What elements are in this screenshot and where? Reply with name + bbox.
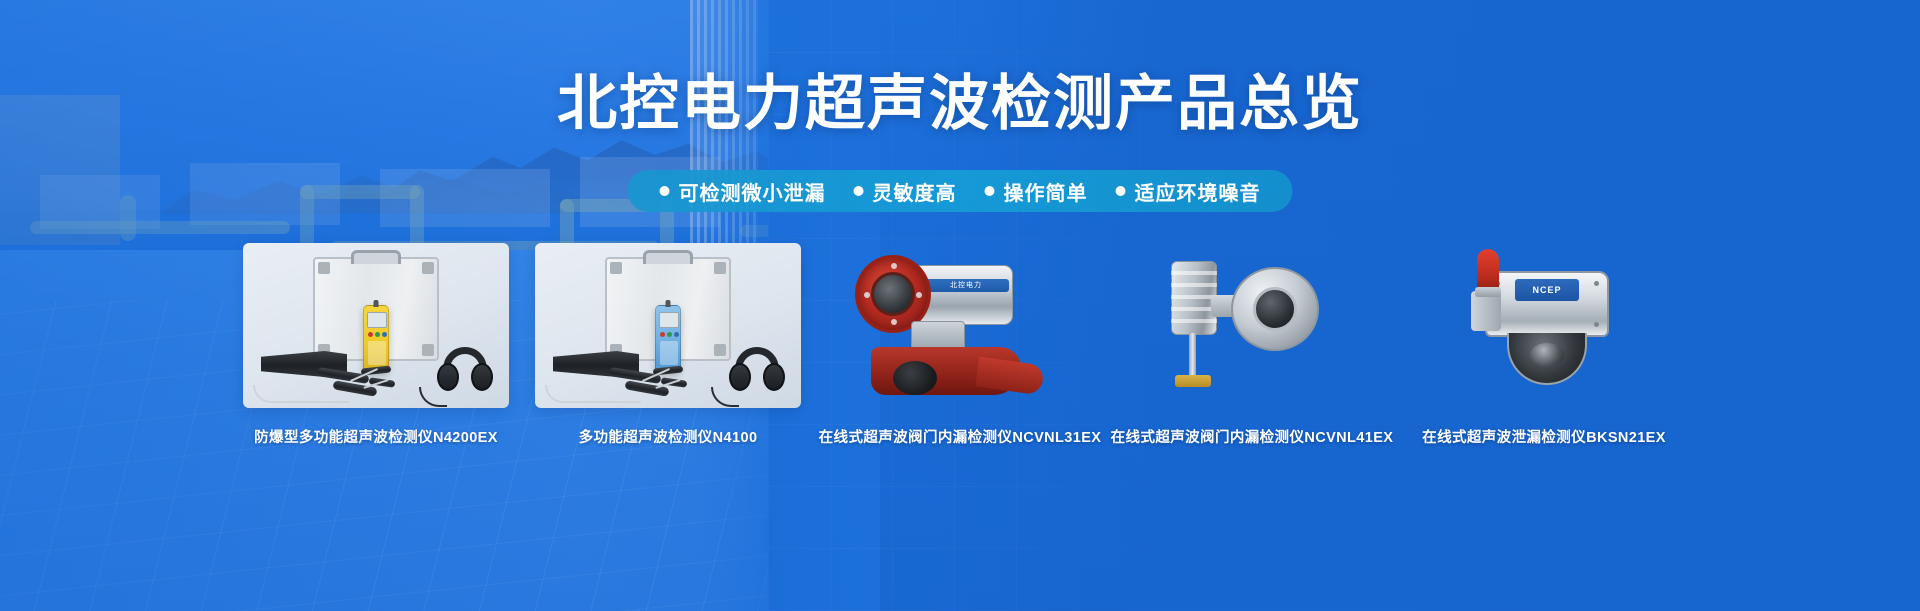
product-caption-4: 在线式超声波泄漏检测仪BKSN21EX xyxy=(1422,426,1666,447)
product-image-4: NCEP xyxy=(1411,243,1677,408)
online-leak-detector-illustration: NCEP xyxy=(1411,243,1677,408)
warning-beacon-icon xyxy=(1477,249,1499,291)
feature-label-3: 适应环境噪音 xyxy=(1135,177,1261,206)
headphones-icon xyxy=(437,347,493,395)
product-card-4[interactable]: NCEP 在线式超声波泄漏检测仪BKSN21EX xyxy=(1411,243,1677,447)
product-caption-1: 多功能超声波检测仪N4100 xyxy=(579,426,758,447)
banner-title: 北控电力超声波检测产品总览 xyxy=(0,72,1920,135)
product-list: 防爆型多功能超声波检测仪N4200EX xyxy=(0,243,1920,447)
device-brand-mark: 北控电力 xyxy=(923,279,1009,292)
bullet-dot-icon xyxy=(854,186,864,196)
online-valve-detector-illustration xyxy=(1119,243,1385,408)
feature-item-2: 操作简单 xyxy=(971,177,1102,206)
product-card-3[interactable]: 在线式超声波阀门内漏检测仪NCVNL41EX xyxy=(1119,243,1385,447)
product-image-0 xyxy=(243,243,509,408)
product-image-1 xyxy=(535,243,801,408)
bullet-dot-icon xyxy=(1116,186,1126,196)
cable-icon xyxy=(253,385,349,403)
feature-label-0: 可检测微小泄漏 xyxy=(679,177,826,206)
feature-list: 可检测微小泄漏 灵敏度高 操作简单 适应环境噪音 xyxy=(628,170,1293,212)
product-card-1[interactable]: 多功能超声波检测仪N4100 xyxy=(535,243,801,447)
device-brand-mark: NCEP xyxy=(1515,279,1579,301)
feature-item-3: 适应环境噪音 xyxy=(1102,177,1275,206)
feature-item-1: 灵敏度高 xyxy=(840,177,971,206)
handheld-detector-illustration xyxy=(363,305,389,373)
product-card-0[interactable]: 防爆型多功能超声波检测仪N4200EX xyxy=(243,243,509,447)
product-caption-3: 在线式超声波阀门内漏检测仪NCVNL41EX xyxy=(1111,426,1394,447)
inline-valve-detector-illustration: 北控电力 xyxy=(827,243,1093,408)
product-overview-banner: 北控电力超声波检测产品总览 可检测微小泄漏 灵敏度高 操作简单 适应环境噪音 xyxy=(0,0,1920,611)
product-card-2[interactable]: 北控电力 在线式超声波阀门内漏检测仪NCVNL31EX xyxy=(827,243,1093,447)
feature-label-2: 操作简单 xyxy=(1004,177,1088,206)
bullet-dot-icon xyxy=(985,186,995,196)
feature-item-0: 可检测微小泄漏 xyxy=(646,177,840,206)
product-image-2: 北控电力 xyxy=(827,243,1093,408)
product-caption-2: 在线式超声波阀门内漏检测仪NCVNL31EX xyxy=(819,426,1102,447)
cable-icon xyxy=(545,385,641,403)
headphones-icon xyxy=(729,347,785,395)
handheld-detector-illustration xyxy=(655,305,681,373)
bullet-dot-icon xyxy=(660,186,670,196)
device-brand-text: 北控电力 xyxy=(923,279,1009,292)
feature-label-1: 灵敏度高 xyxy=(873,177,957,206)
product-image-3 xyxy=(1119,243,1385,408)
product-caption-0: 防爆型多功能超声波检测仪N4200EX xyxy=(254,426,498,447)
